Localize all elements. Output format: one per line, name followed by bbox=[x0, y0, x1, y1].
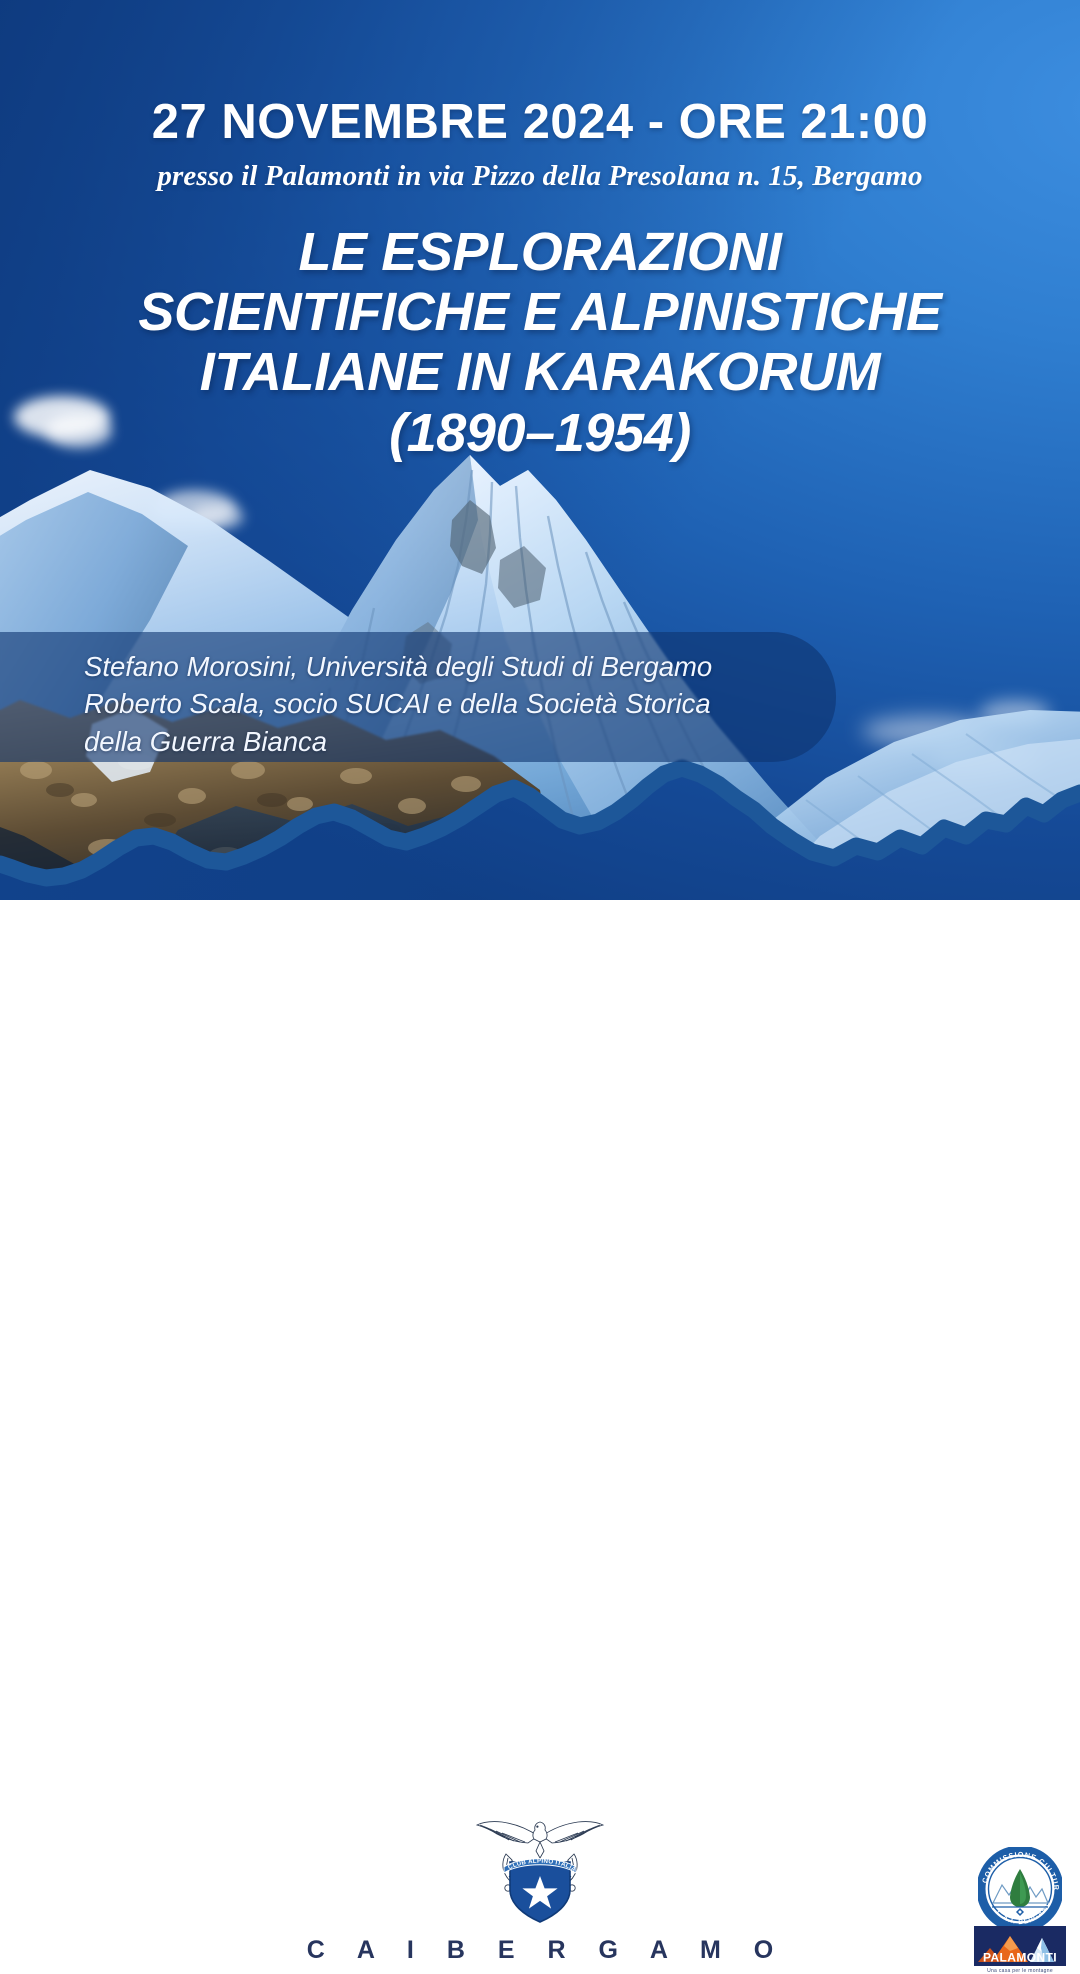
palamonti-title: PALAMONTI bbox=[983, 1951, 1057, 1965]
organization-name: C A I B E R G A M O bbox=[0, 1936, 1080, 1965]
title-line-2: SCIENTIFICHE E ALPINISTICHE bbox=[28, 282, 1052, 342]
title-line-3: ITALIANE IN KARAKORUM bbox=[28, 342, 1052, 402]
title-line-4: (1890–1954) bbox=[28, 403, 1052, 463]
event-poster: 27 NOVEMBRE 2024 - ORE 21:00 presso il P… bbox=[0, 0, 1080, 1080]
event-venue: presso il Palamonti in via Pizzo della P… bbox=[0, 160, 1080, 193]
palamonti-tagline: Una casa per le montagne bbox=[987, 1968, 1053, 1974]
event-date-time: 27 NOVEMBRE 2024 - ORE 21:00 bbox=[0, 97, 1080, 148]
speakers-text: Stefano Morosini, Università degli Studi… bbox=[84, 648, 844, 760]
speaker-line-1: Stefano Morosini, Università degli Studi… bbox=[84, 648, 844, 685]
title-line-1: LE ESPLORAZIONI bbox=[28, 222, 1052, 282]
commissione-cultura-icon: COMMISSIONE CULTURA C.A.I. BERGAMO bbox=[978, 1847, 1062, 1931]
poster-footer: CLUB ALPINO ITALIANO C A I B E R G A M O… bbox=[0, 900, 1080, 1080]
speaker-line-2: Roberto Scala, socio SUCAI e della Socie… bbox=[84, 685, 844, 722]
speaker-line-3: della Guerra Bianca bbox=[84, 723, 844, 760]
cai-eagle-shield-icon: CLUB ALPINO ITALIANO bbox=[472, 1818, 608, 1926]
palamonti-icon: PALAMONTI Una casa per le montagne bbox=[974, 1926, 1066, 1974]
event-title: LE ESPLORAZIONI SCIENTIFICHE E ALPINISTI… bbox=[0, 222, 1080, 463]
